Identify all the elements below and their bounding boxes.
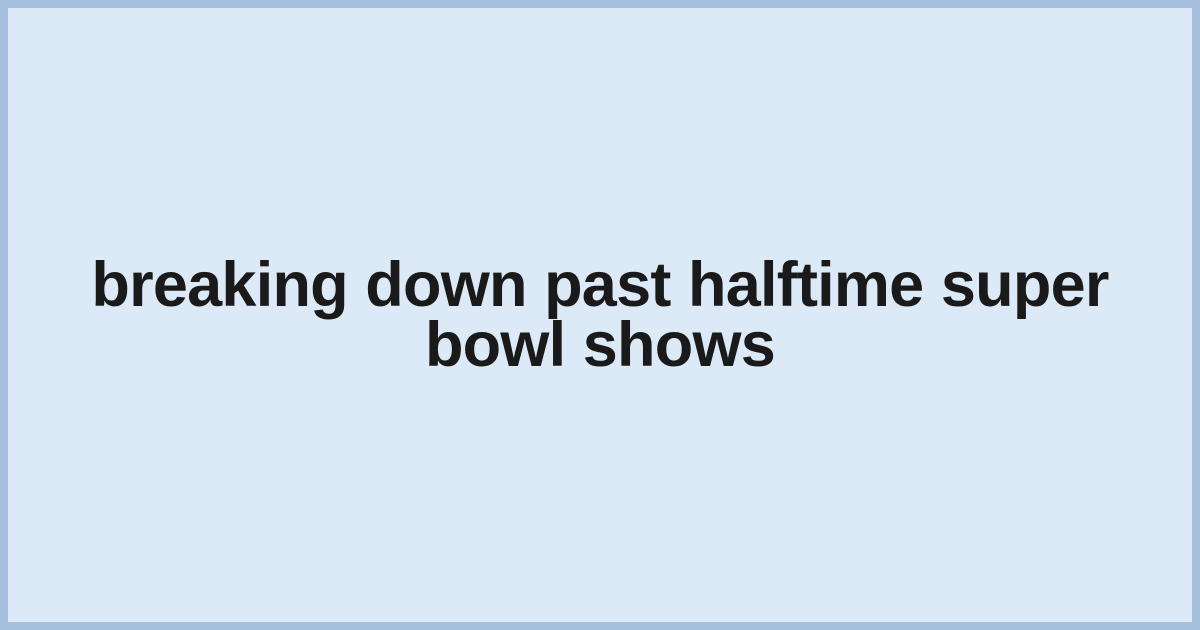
headline-text: breaking down past halftime super bowl s… [50,255,1150,376]
share-card: breaking down past halftime super bowl s… [0,0,1200,630]
card-content: breaking down past halftime super bowl s… [8,255,1192,376]
